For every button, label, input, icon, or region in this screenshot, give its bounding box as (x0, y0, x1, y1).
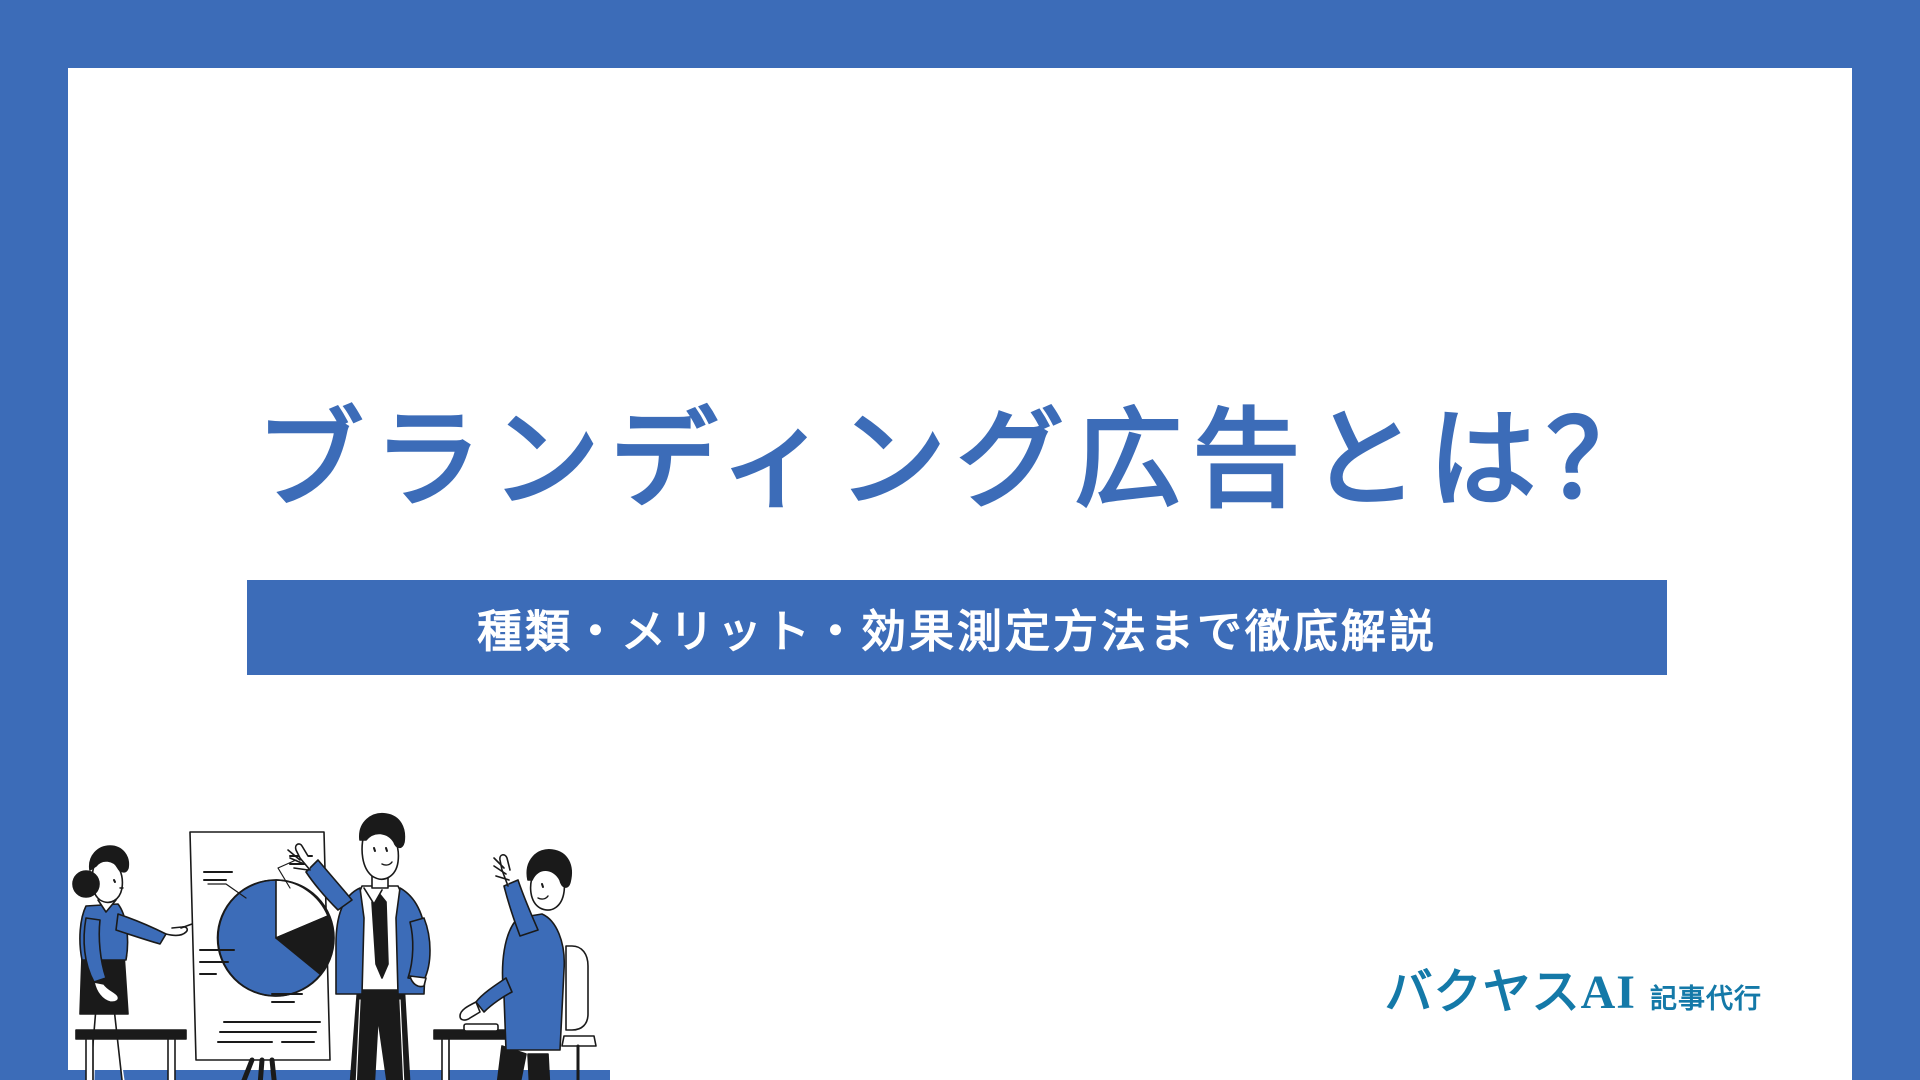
brand-logo: バクヤスAI 記事代行 (1385, 952, 1762, 1022)
subtitle-text: 種類・メリット・効果測定方法まで徹底解説 (477, 595, 1437, 660)
business-team-presentation-illustration (0, 788, 610, 1080)
page-title: ブランディング広告とは？ (68, 398, 1852, 522)
subtitle-band: 種類・メリット・効果測定方法まで徹底解説 (247, 580, 1667, 675)
slide-root: ブランディング広告とは？ 種類・メリット・効果測定方法まで徹底解説 バクヤスAI… (0, 0, 1920, 1080)
brand-logo-main: バクヤスAI (1385, 952, 1636, 1022)
brand-logo-sub: 記事代行 (1650, 977, 1762, 1016)
